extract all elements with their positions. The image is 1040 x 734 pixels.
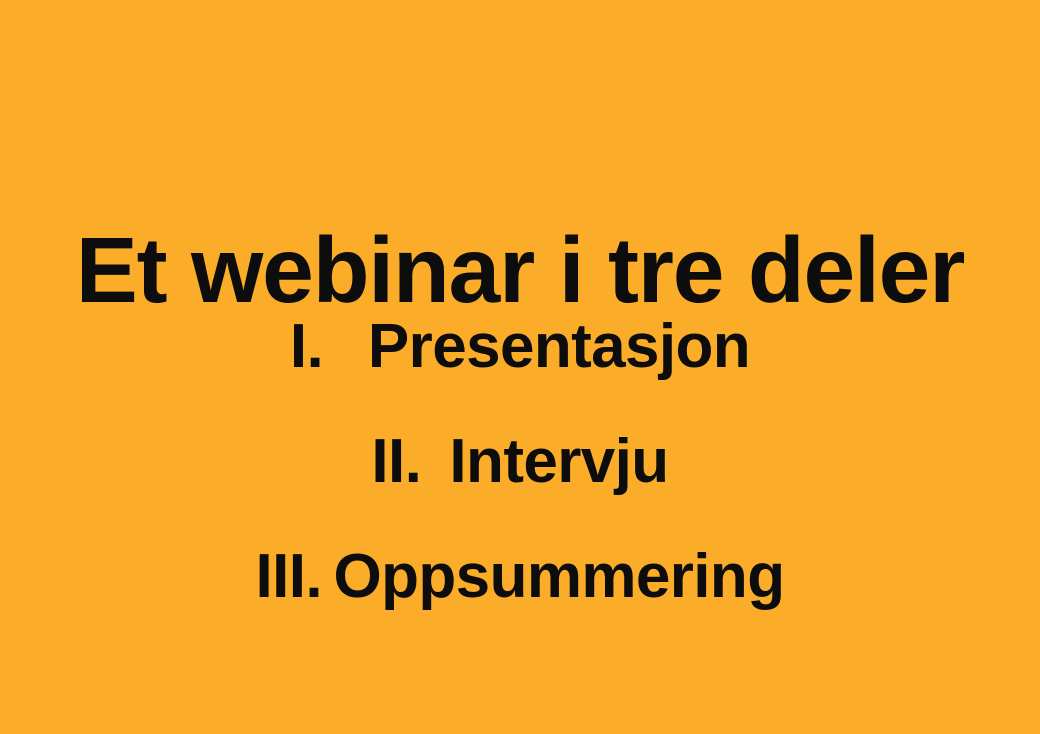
agenda-item-label: Intervju [449,431,668,493]
agenda-item-numeral: II. [371,431,449,493]
agenda-item-label: Oppsummering [334,546,785,608]
agenda-item-1: I. Presentasjon [0,316,1040,431]
agenda-item-2: II. Intervju [0,431,1040,546]
agenda-item-label: Presentasjon [368,316,750,378]
agenda-list: I. Presentasjon II. Intervju III. Oppsum… [0,316,1040,661]
agenda-item-numeral: III. [256,546,334,608]
agenda-item-numeral: I. [290,316,368,378]
slide-title: Et webinar i tre deler [0,220,1040,320]
agenda-item-3: III. Oppsummering [0,546,1040,661]
presentation-slide: Et webinar i tre deler I. Presentasjon I… [0,0,1040,734]
